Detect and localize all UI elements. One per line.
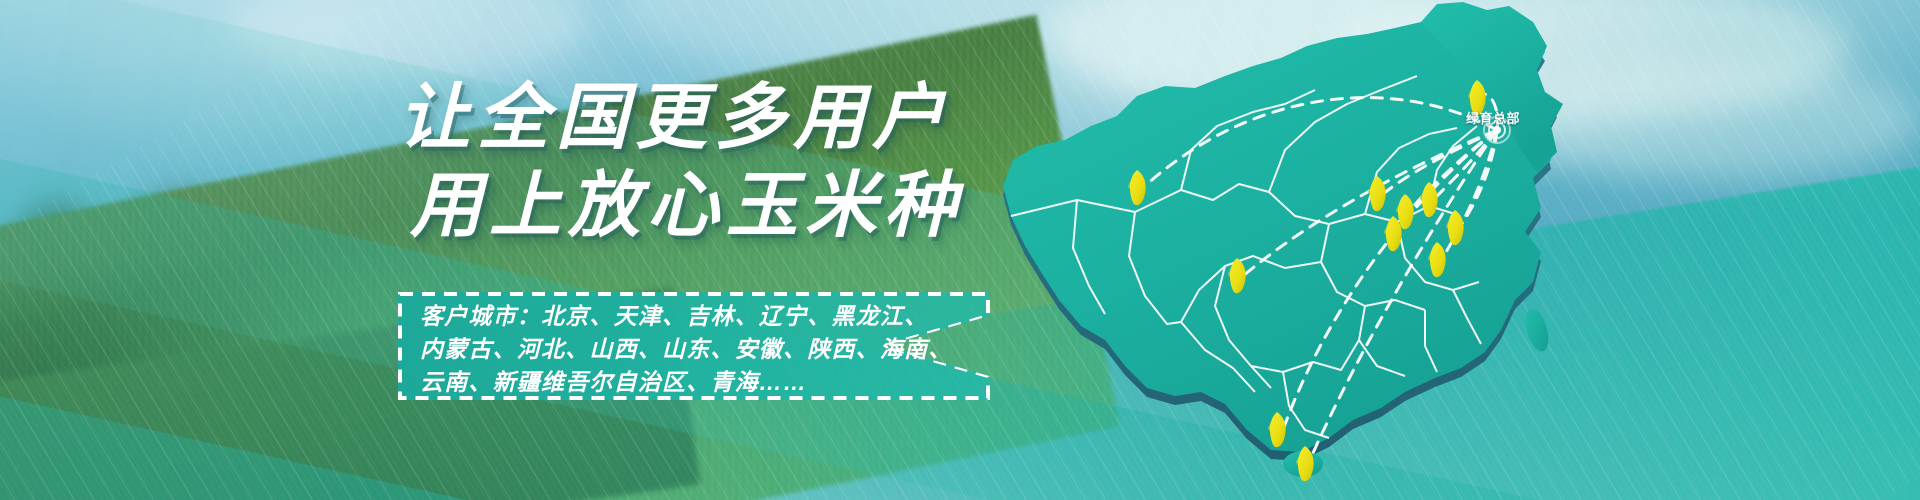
city-line-3: 云南、新疆维吾尔自治区、青海…… — [420, 366, 970, 399]
headline-line-1: 让全国更多用户 — [398, 75, 1038, 163]
city-line-1: 客户城市：北京、天津、吉林、辽宁、黑龙江、 — [420, 300, 970, 333]
headline-line-2: 用上放心玉米种 — [410, 163, 1038, 251]
headquarters-label: 绿育总部 — [1466, 108, 1520, 127]
page-title: 让全国更多用户 用上放心玉米种 — [398, 75, 1038, 251]
city-line-2: 内蒙古、河北、山西、山东、安徽、陕西、海南、 — [420, 333, 970, 366]
banner-root: 让全国更多用户 用上放心玉米种 客户城市：北京、天津、吉林、辽宁、黑龙江、 内蒙… — [0, 0, 1920, 500]
customer-cities-box: 客户城市：北京、天津、吉林、辽宁、黑龙江、 内蒙古、河北、山西、山东、安徽、陕西… — [398, 292, 990, 400]
map-taiwan — [1521, 306, 1552, 354]
china-map — [985, 0, 1920, 500]
map-landmass — [1003, 14, 1557, 452]
customer-cities-text: 客户城市：北京、天津、吉林、辽宁、黑龙江、 内蒙古、河北、山西、山东、安徽、陕西… — [420, 300, 970, 399]
